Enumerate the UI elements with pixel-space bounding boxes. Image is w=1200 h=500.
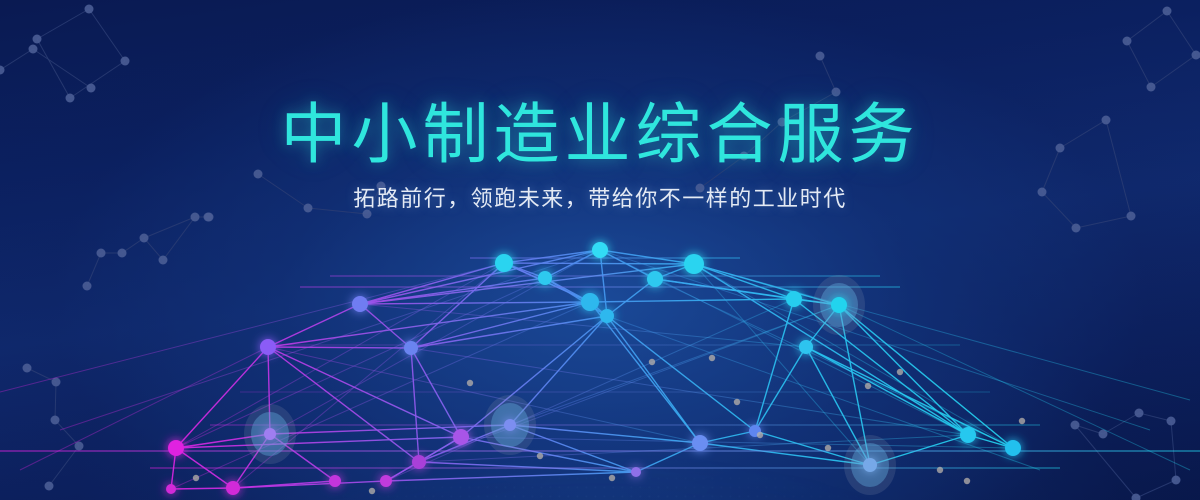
dome-nodes	[166, 242, 1021, 495]
dome-node	[352, 296, 368, 312]
dome-node	[453, 429, 469, 445]
dome-node	[581, 293, 599, 311]
dome-node	[831, 297, 847, 313]
banner-text-block: 中小制造业综合服务 拓路前行，领跑未来，带给你不一样的工业时代	[0, 96, 1200, 214]
dome-node	[412, 455, 426, 469]
dome-node	[960, 427, 976, 443]
dome-node	[168, 440, 184, 456]
dome-node	[495, 254, 513, 272]
dome-node	[863, 458, 877, 472]
dome-node	[504, 419, 516, 431]
dome-node	[799, 340, 813, 354]
dome-node	[260, 339, 276, 355]
dome-node	[226, 481, 240, 495]
dome-node	[600, 309, 614, 323]
page-subtitle: 拓路前行，领跑未来，带给你不一样的工业时代	[0, 184, 1200, 214]
wireframe-dome-network	[0, 0, 1200, 500]
dome-node	[404, 341, 418, 355]
dome-node	[647, 271, 663, 287]
page-title: 中小制造业综合服务	[0, 96, 1200, 172]
dome-node	[380, 475, 392, 487]
dome-node	[684, 254, 704, 274]
dome-node	[264, 428, 276, 440]
dome-node	[631, 467, 641, 477]
dome-node	[1005, 440, 1021, 456]
dome-node	[329, 475, 341, 487]
dome-node	[692, 435, 708, 451]
dome-node	[786, 291, 802, 307]
dome-node	[166, 484, 176, 494]
dome-node	[538, 271, 552, 285]
hero-banner: 中小制造业综合服务 拓路前行，领跑未来，带给你不一样的工业时代	[0, 0, 1200, 500]
dome-node	[592, 242, 608, 258]
